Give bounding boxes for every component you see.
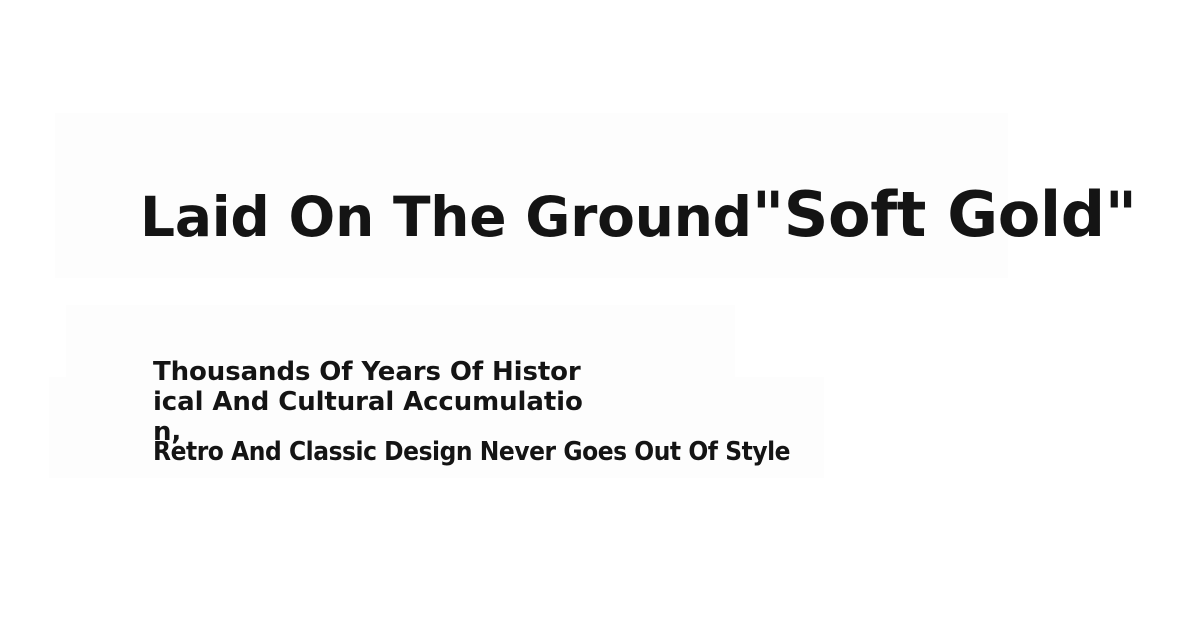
body-paragraph-secondary: Retro And Classic Design Never Goes Out …: [153, 437, 873, 467]
promo-banner: Laid On The Ground"Soft Gold" Thousands …: [0, 0, 1200, 617]
headline-lead-text: Laid On The Ground: [140, 185, 752, 249]
page-title: Laid On The Ground"Soft Gold": [140, 184, 1140, 246]
headline-emphasis-text: "Soft Gold": [752, 178, 1137, 251]
body-paragraph-primary: Thousands Of Years Of Historical And Cul…: [153, 357, 589, 447]
